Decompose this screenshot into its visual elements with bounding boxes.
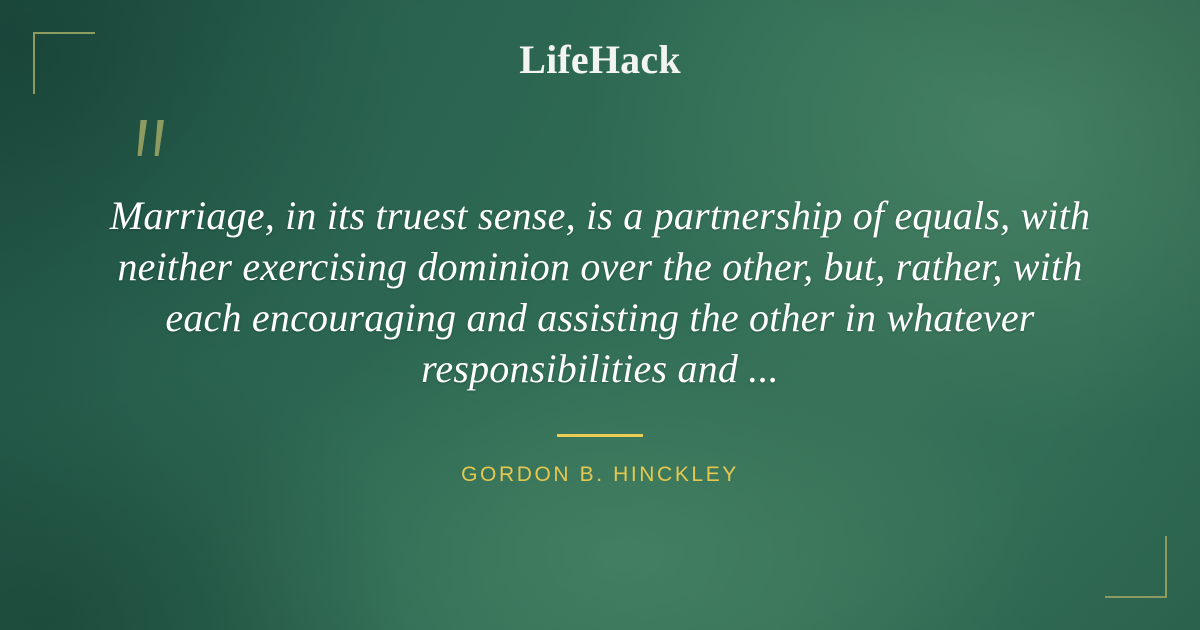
quote-line: Marriage, in its truest sense, is a part… (60, 190, 1140, 241)
quote-line: responsibilities and ... (60, 343, 1140, 394)
corner-bracket-bottom-right-icon (1105, 536, 1167, 598)
quote-line: neither exercising dominion over the oth… (60, 241, 1140, 292)
quote-line: each encouraging and assisting the other… (60, 292, 1140, 343)
double-quote-icon (128, 118, 178, 166)
author-divider (557, 434, 643, 437)
quote-card: LifeHack Marriage, in its truest sense, … (0, 0, 1200, 630)
quote-text: Marriage, in its truest sense, is a part… (60, 190, 1140, 394)
brand-logo: LifeHack (0, 36, 1200, 83)
author-name: GORDON B. HINCKLEY (0, 463, 1200, 487)
